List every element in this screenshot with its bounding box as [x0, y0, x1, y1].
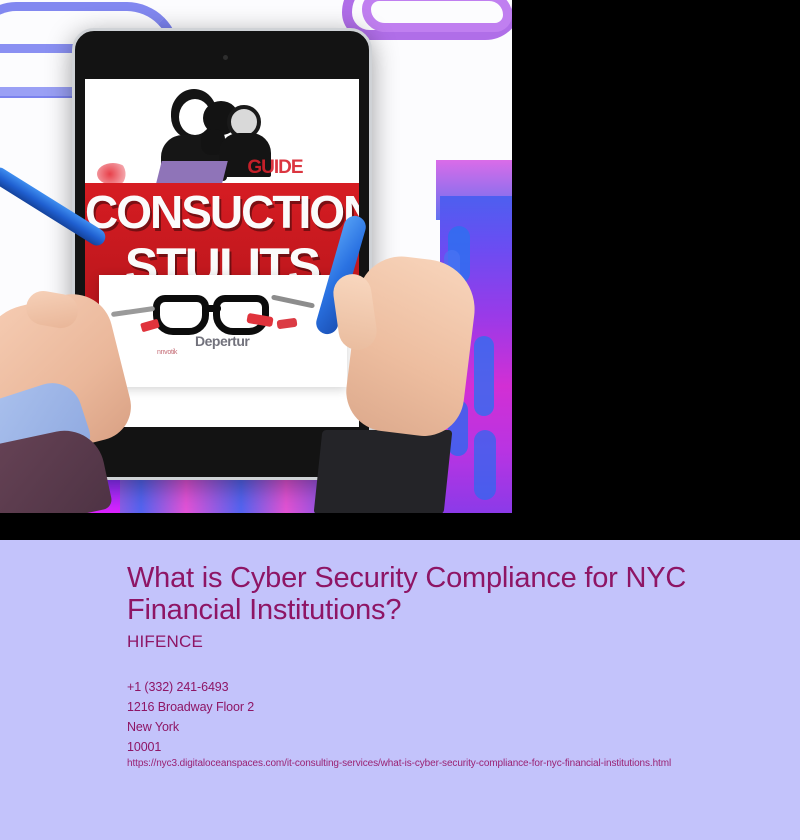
tablet-screen: GUIDE CONSUCTION STULITS	[85, 79, 359, 427]
tablet-camera-icon	[223, 55, 228, 60]
hand-left-thumb	[24, 288, 81, 331]
hero-banner: GUIDE CONSUCTION STULITS	[0, 0, 800, 540]
brand-name: HIFENCE	[127, 632, 203, 652]
headline-line-one: CONSUCTION	[85, 185, 359, 239]
contact-zip: 10001	[127, 737, 254, 757]
purple-squiggle-inner-icon	[362, 0, 512, 32]
red-smudge-left	[97, 163, 129, 185]
contact-info-list: +1 (332) 241-6493 1216 Broadway Floor 2 …	[127, 677, 254, 757]
city-building-right-2	[474, 430, 496, 500]
eyeglasses-left-lens	[153, 295, 209, 335]
desk-shape	[156, 161, 227, 183]
hero-artwork-image: GUIDE CONSUCTION STULITS	[0, 0, 512, 513]
scene-top-word: GUIDE	[221, 157, 329, 179]
red-scribble-three	[276, 318, 297, 330]
tablet-case	[314, 430, 453, 513]
contact-city: New York	[127, 717, 254, 737]
source-url-link[interactable]: https://nyc3.digitaloceanspaces.com/it-c…	[127, 758, 671, 769]
scene-bottom-card: Depertur nnvotik	[99, 275, 347, 387]
eyeglasses-temple-left	[111, 306, 155, 317]
content-section: What is Cyber Security Compliance for NY…	[0, 540, 800, 840]
eyeglasses-temple-right	[271, 294, 315, 308]
page-title: What is Cyber Security Compliance for NY…	[127, 562, 727, 626]
contact-phone: +1 (332) 241-6493	[127, 677, 254, 697]
scene-caption-word: Depertur	[195, 333, 315, 349]
scene-caption-small: nnvotik	[157, 349, 177, 356]
eyeglasses-bridge	[205, 305, 221, 312]
contact-street: 1216 Broadway Floor 2	[127, 697, 254, 717]
